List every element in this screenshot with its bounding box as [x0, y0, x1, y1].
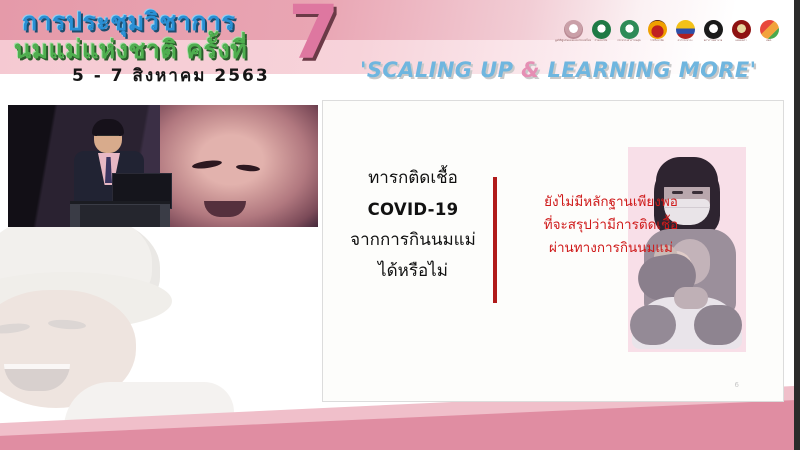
tagline-prefix: 'SCALING UP — [360, 58, 521, 82]
question-line-3: จากการกินนมแม่ — [333, 225, 493, 256]
logo-caption: กรมอนามัย — [595, 40, 608, 43]
presentation-slide: ทารกติดเชื้อ COVID-19 จากการกินนมแม่ ได้… — [322, 100, 784, 402]
conference-date: 5 - 7 สิงหาคม 2563 — [72, 62, 270, 89]
tagline-ampersand: & — [521, 58, 540, 82]
mother-leg-right — [694, 305, 742, 345]
logo-medical-council: แพทยสภา — [730, 20, 752, 43]
logo-royal-college: ราชวิทยาลัย — [646, 20, 668, 43]
mother-hair-front — [656, 157, 718, 187]
speaker-glasses-icon — [97, 135, 119, 141]
slide-answer: ยังไม่มีหลักฐานเพียงพอ ที่จะสรุปว่ามีการ… — [505, 191, 717, 260]
logo-caption: สภาการพยาบาล — [704, 40, 723, 43]
logo-department-of-health-icon — [620, 20, 639, 39]
mother-leg-left — [630, 305, 676, 345]
conference-tagline: 'SCALING UP & LEARNING MORE' — [360, 58, 756, 82]
answer-line-1: ยังไม่มีหลักฐานเพียงพอ — [505, 191, 717, 214]
logo-caption: ตรากระทรวง — [678, 40, 693, 43]
logo-caption: แพทยสภา — [735, 40, 746, 43]
slide-question: ทารกติดเชื้อ COVID-19 จากการกินนมแม่ ได้… — [333, 163, 493, 287]
mother-hand — [674, 287, 708, 309]
logo-ministry-of-public-health-icon — [592, 20, 611, 39]
video-frame-right-edge — [794, 0, 800, 450]
slide-vertical-divider — [493, 177, 497, 303]
conference-edition-number: 7 — [288, 0, 340, 70]
logo-ministry-of-public-health: กรมอนามัย — [590, 20, 612, 43]
logo-nurses-council: สภาการพยาบาล — [702, 20, 724, 43]
logo-caption: มูลนิธิศูนย์นมแม่แห่งประเทศไทย — [555, 40, 591, 43]
logo-royal-emblem-icon — [676, 20, 695, 39]
logo-caption: ราชวิทยาลัย — [650, 40, 664, 43]
tagline-suffix: LEARNING MORE' — [540, 58, 757, 82]
logo-medical-council-icon — [732, 20, 751, 39]
logo-breastfeeding-foundation-icon — [564, 20, 583, 39]
logo-breastfeeding-foundation: มูลนิธิศูนย์นมแม่แห่งประเทศไทย — [562, 20, 584, 43]
question-line-4: ได้หรือไม่ — [333, 256, 493, 287]
question-line-1: ทารกติดเชื้อ — [333, 163, 493, 194]
logo-royal-emblem: ตรากระทรวง — [674, 20, 696, 43]
slide-screenshot: การประชุมวิชาการ นมแม่แห่งชาติ ครั้งที่ … — [0, 0, 800, 450]
answer-line-3: ผ่านทางการกินนมแม่ — [505, 237, 717, 260]
conference-speaker-video[interactable] — [8, 105, 318, 227]
sponsor-logo-row: มูลนิธิศูนย์นมแม่แห่งประเทศไทย กรมอนามัย… — [562, 20, 780, 43]
speaker-hair — [92, 119, 124, 136]
logo-thaihealth-sss-icon — [760, 20, 779, 39]
slide-page-number: 6 — [735, 381, 739, 389]
logo-caption: สสส. — [766, 40, 772, 43]
logo-department-of-health: กระทรวงสาธารณสุข — [618, 20, 640, 43]
answer-line-2: ที่จะสรุปว่ามีการติดเชื้อ — [505, 214, 717, 237]
logo-caption: กระทรวงสาธารณสุข — [617, 40, 640, 43]
logo-thaihealth-sss: สสส. — [758, 20, 780, 43]
logo-royal-college-icon — [648, 20, 667, 39]
question-line-2: COVID-19 — [333, 194, 493, 225]
conference-header-banner: การประชุมวิชาการ นมแม่แห่งชาติ ครั้งที่ … — [0, 0, 794, 96]
logo-nurses-council-icon — [704, 20, 723, 39]
podium-front-panel — [80, 205, 160, 227]
